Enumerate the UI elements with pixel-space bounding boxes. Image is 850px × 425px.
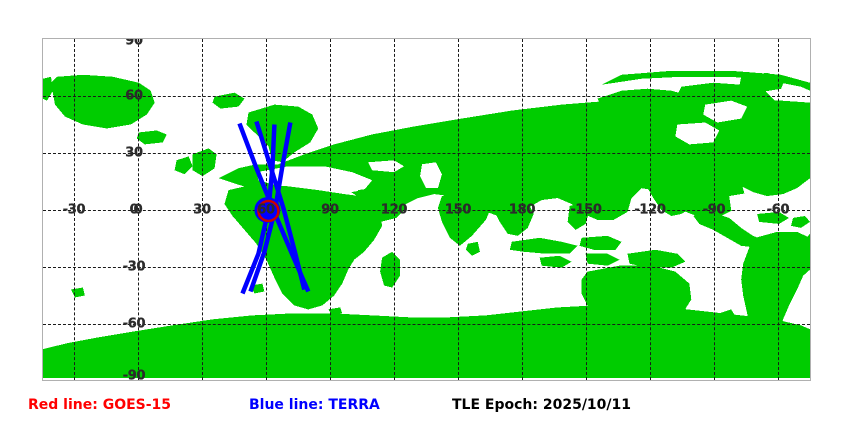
orbit-track-layer — [43, 39, 810, 380]
lat-tick--90: -90 — [123, 370, 146, 382]
lon-tick-120: 120 — [381, 204, 407, 217]
lon-tick--30: -30 — [63, 204, 86, 217]
world-map-plot: 90 60 30 0 -30 -60 -90 -30 0 30 60 90 12… — [42, 38, 811, 381]
lat-tick--60: -60 — [123, 318, 146, 331]
legend-bar: Red line: GOES-15 Blue line: TERRA TLE E… — [0, 396, 850, 420]
lon-tick--60: -60 — [767, 204, 790, 217]
legend-blue-line-terra: Blue line: TERRA — [249, 396, 380, 414]
lat-tick--30: -30 — [123, 261, 146, 274]
lon-tick-90: 90 — [321, 204, 339, 217]
lat-tick-30: 30 — [125, 147, 143, 160]
lon-tick--120: -120 — [634, 204, 665, 217]
lon-tick-60: 60 — [257, 204, 275, 217]
lon-tick--90: -90 — [703, 204, 726, 217]
legend-red-line-goes15: Red line: GOES-15 — [28, 396, 171, 414]
lat-tick-60: 60 — [125, 90, 143, 103]
lat-tick-90: 90 — [125, 38, 143, 48]
lon-tick--150: -150 — [570, 204, 601, 217]
lon-tick-150: 150 — [445, 204, 471, 217]
lon-tick-30: 30 — [193, 204, 211, 217]
lon-tick-0: 0 — [134, 204, 143, 217]
lon-tick-180: 180 — [509, 204, 535, 217]
legend-tle-epoch: TLE Epoch: 2025/10/11 — [452, 396, 631, 414]
satellite-ground-track-figure: 90 60 30 0 -30 -60 -90 -30 0 30 60 90 12… — [0, 0, 850, 425]
